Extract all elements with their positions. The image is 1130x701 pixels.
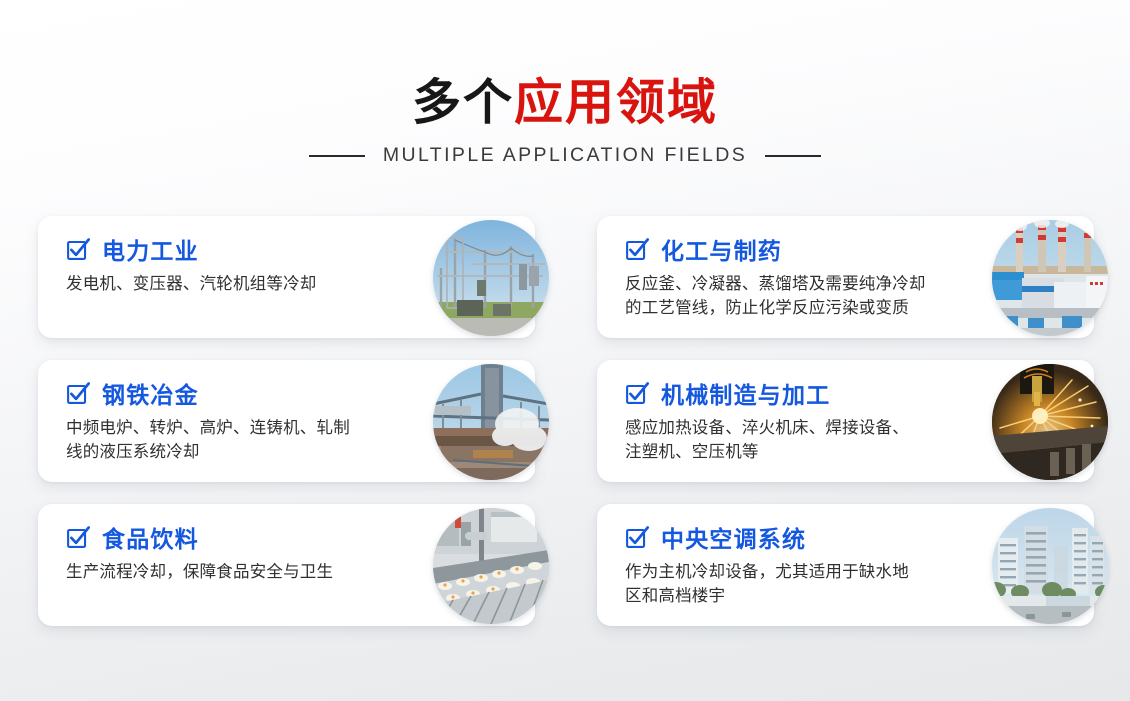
card-title-label: 钢铁冶金 (102, 376, 199, 410)
card-description: 反应釜、冷凝器、蒸馏塔及需要纯净冷却 的工艺管线，防止化学反应污染或变质 (625, 273, 944, 321)
divider-line-right (765, 155, 821, 157)
page-title-red-part: 应用领域 (514, 76, 718, 130)
card-description: 作为主机冷却设备，尤其适用于缺水地 区和高档楼宇 (625, 561, 944, 609)
page-header: 多个应用领域 MULTIPLE APPLICATION FIELDS (0, 0, 1130, 167)
card-title-row: 电力工业 (66, 234, 385, 264)
card-description: 感应加热设备、淬火机床、焊接设备、 注塑机、空压机等 (625, 417, 944, 465)
card-description: 中频电炉、转炉、高炉、连铸机、轧制 线的液压系统冷却 (66, 417, 385, 465)
high-rise-buildings-photo (992, 508, 1108, 624)
card-title-row: 化工与制药 (625, 234, 944, 264)
checkbox-checked-icon (625, 525, 650, 550)
application-card-power-industry[interactable]: 电力工业 发电机、变压器、汽轮机组等冷却 (38, 216, 535, 338)
card-title-label: 化工与制药 (661, 232, 782, 266)
application-card-food-beverage[interactable]: 食品饮料 生产流程冷却，保障食品安全与卫生 (38, 504, 535, 626)
application-fields-grid: 电力工业 发电机、变压器、汽轮机组等冷却 (38, 216, 1094, 626)
application-card-chemical-pharma[interactable]: 化工与制药 反应釜、冷凝器、蒸馏塔及需要纯净冷却 的工艺管线，防止化学反应污染或… (597, 216, 1094, 338)
application-card-steel-metallurgy[interactable]: 钢铁冶金 中频电炉、转炉、高炉、连铸机、轧制 线的液压系统冷却 (38, 360, 535, 482)
card-title-row: 机械制造与加工 (625, 378, 944, 408)
card-title-label: 中央空调系统 (661, 520, 806, 554)
card-title-row: 中央空调系统 (625, 522, 944, 552)
page-title-black-part: 多个 (412, 76, 514, 130)
page-subtitle: MULTIPLE APPLICATION FIELDS (383, 144, 747, 167)
card-title-row: 钢铁冶金 (66, 378, 385, 408)
laser-cutting-sparks-photo (992, 364, 1108, 480)
checkbox-checked-icon (66, 237, 91, 262)
application-card-central-air-conditioning[interactable]: 中央空调系统 作为主机冷却设备，尤其适用于缺水地 区和高档楼宇 (597, 504, 1094, 626)
card-description: 生产流程冷却，保障食品安全与卫生 (66, 561, 385, 585)
power-substation-photo (433, 220, 549, 336)
application-card-machinery-manufacturing[interactable]: 机械制造与加工 感应加热设备、淬火机床、焊接设备、 注塑机、空压机等 (597, 360, 1094, 482)
checkbox-checked-icon (66, 381, 91, 406)
chemical-plant-photo (992, 220, 1108, 336)
checkbox-checked-icon (66, 525, 91, 550)
card-description: 发电机、变压器、汽轮机组等冷却 (66, 273, 385, 297)
checkbox-checked-icon (625, 381, 650, 406)
card-title-row: 食品饮料 (66, 522, 385, 552)
divider-line-left (309, 155, 365, 157)
food-production-line-photo (433, 508, 549, 624)
checkbox-checked-icon (625, 237, 650, 262)
subtitle-row: MULTIPLE APPLICATION FIELDS (0, 144, 1130, 167)
card-title-label: 电力工业 (102, 232, 199, 266)
page-title: 多个应用领域 (0, 78, 1130, 129)
card-title-label: 食品饮料 (102, 520, 199, 554)
card-title-label: 机械制造与加工 (661, 376, 830, 410)
steel-mill-photo (433, 364, 549, 480)
